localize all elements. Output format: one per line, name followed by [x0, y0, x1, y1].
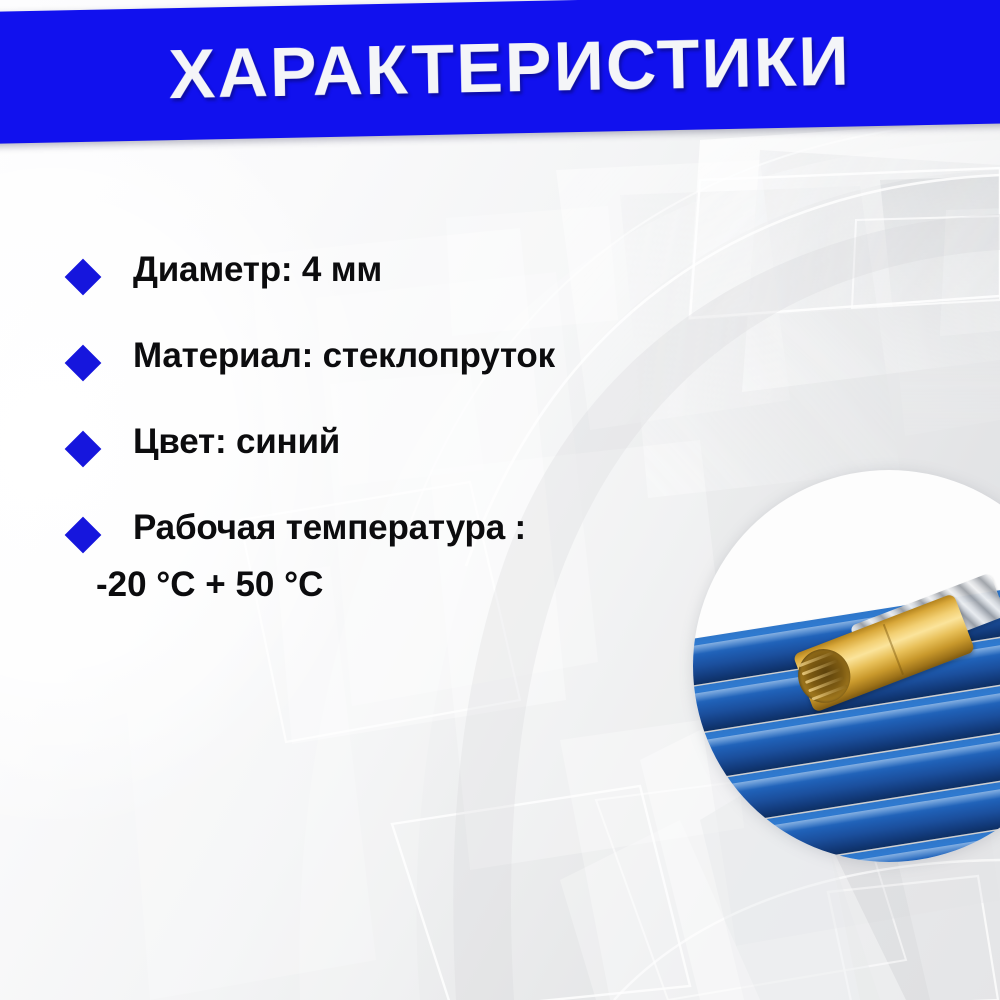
spec-list: Диаметр: 4 мм Материал: стеклопруток Цве… — [70, 252, 730, 602]
product-photo — [693, 470, 1000, 862]
spec-label-color: Цвет: синий — [133, 424, 340, 459]
header-band: ХАРАКТЕРИСТИКИ — [0, 0, 1000, 144]
spec-label-diameter: Диаметр: 4 мм — [133, 252, 382, 287]
page-title: ХАРАКТЕРИСТИКИ — [0, 0, 1000, 144]
product-photo-image — [693, 470, 1000, 862]
spec-item-temperature: Рабочая температура : -20 °C + 50 °C — [70, 510, 730, 602]
spec-label-material: Материал: стеклопруток — [133, 338, 555, 373]
promo-card: ХАРАКТЕРИСТИКИ Диаметр: 4 мм Материал: с… — [0, 0, 1000, 1000]
spec-item-color: Цвет: синий — [70, 424, 730, 462]
spec-item-material: Материал: стеклопруток — [70, 338, 730, 376]
spec-item-diameter: Диаметр: 4 мм — [70, 252, 730, 290]
spec-label-temperature: Рабочая температура : — [133, 510, 526, 545]
spec-value-temperature-range: -20 °C + 50 °C — [96, 567, 526, 602]
